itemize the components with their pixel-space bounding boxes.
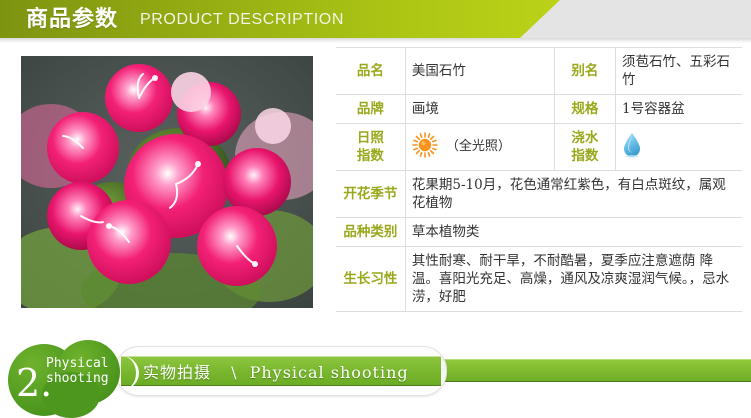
spec-label-sunlight-index: 日照 指数: [336, 124, 405, 171]
banner-separator: \: [217, 363, 243, 382]
banner-pill-text: 实物拍摄 \ Physical shooting: [121, 359, 409, 383]
spec-value-blooming-season: 花果期5-10月，花色通常红紫色，有白点斑纹，属观花植物: [405, 171, 742, 218]
product-spec-table: 品名 美国石竹 别名 须苞石竹、五彩石竹 品牌 画境 规格 1号容器盆 日照 指…: [336, 47, 742, 312]
badge-english-line2: shooting: [46, 371, 109, 386]
header-shadow: [0, 38, 751, 43]
spec-label-blooming-season: 开花季节: [336, 171, 405, 218]
sun-icon: [412, 132, 438, 163]
spec-value-watering-index: [615, 124, 742, 171]
banner-label-en: Physical shooting: [250, 363, 409, 382]
table-row: 开花季节 花果期5-10月，花色通常红紫色，有白点斑纹，属观花植物: [336, 171, 742, 218]
spec-label-alias: 别名: [554, 48, 615, 95]
flower-photo-graphic: [21, 56, 313, 308]
spec-label-brand: 品牌: [336, 95, 405, 124]
table-row: 生长习性 其性耐寒、耐干旱，不耐酷暑，夏季应注意遮荫 降温。喜阳光充足、高燥，通…: [336, 247, 742, 312]
spec-label-product-name: 品名: [336, 48, 405, 95]
spec-value-alias: 须苞石竹、五彩石竹: [615, 48, 742, 95]
spec-label-variety-category: 品种类别: [336, 218, 405, 247]
page-title-english: PRODUCT DESCRIPTION: [140, 10, 344, 30]
product-photo: [21, 56, 313, 308]
spec-label-sunlight-line2: 指数: [342, 147, 399, 165]
bottom-banner: 实物拍摄 \ Physical shooting 2. Physical sho…: [0, 338, 751, 418]
table-row: 日照 指数: [336, 124, 742, 171]
spec-label-watering-index: 浇水 指数: [554, 124, 615, 171]
banner-pill-bar: 实物拍摄 \ Physical shooting: [121, 356, 441, 386]
spec-value-sunlight-note: （全光照）: [446, 138, 511, 156]
spec-value-growth-habit: 其性耐寒、耐干旱，不耐酷暑，夏季应注意遮荫 降温。喜阳光充足、高燥，通风及凉爽湿…: [405, 247, 742, 312]
badge-tail-stroke: [106, 356, 139, 390]
spec-value-specification: 1号容器盆: [615, 95, 742, 124]
spec-value-sunlight-index: （全光照）: [405, 124, 554, 171]
banner-label-cn: 实物拍摄: [143, 363, 211, 382]
spec-label-specification: 规格: [554, 95, 615, 124]
spec-label-watering-line1: 浇水: [561, 129, 609, 147]
spec-value-brand: 画境: [405, 95, 554, 124]
spec-label-growth-habit: 生长习性: [336, 247, 405, 312]
spec-value-variety-category: 草本植物类: [405, 218, 742, 247]
spec-label-sunlight-line1: 日照: [342, 129, 399, 147]
page-header: 商品参数 PRODUCT DESCRIPTION: [0, 0, 751, 38]
badge-english-line1: Physical: [46, 356, 109, 371]
spec-label-watering-line2: 指数: [561, 147, 609, 165]
table-row: 品名 美国石竹 别名 须苞石竹、五彩石竹: [336, 48, 742, 95]
table-row: 品牌 画境 规格 1号容器盆: [336, 95, 742, 124]
section-number-badge: 2. Physical shooting: [2, 338, 130, 418]
spec-value-product-name: 美国石竹: [405, 48, 554, 95]
badge-english-label: Physical shooting: [46, 356, 109, 386]
page-title: 商品参数: [26, 5, 118, 33]
table-row: 品种类别 草本植物类: [336, 218, 742, 247]
water-drop-icon: [622, 146, 642, 162]
